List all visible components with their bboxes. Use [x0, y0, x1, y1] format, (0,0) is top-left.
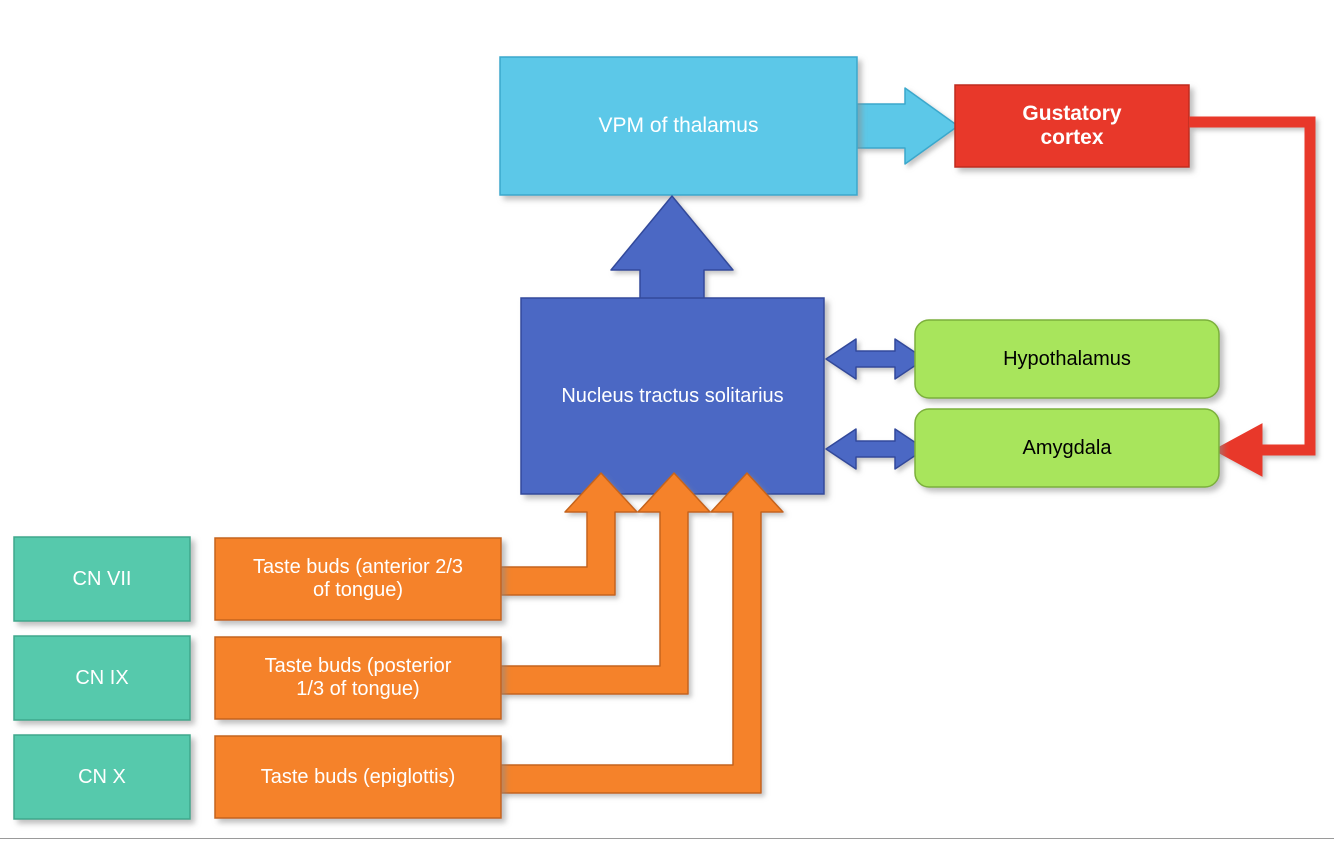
node-cn-ix[interactable] — [14, 636, 190, 720]
node-hypothalamus[interactable] — [915, 320, 1219, 398]
footer-divider — [0, 838, 1334, 839]
node-taste-buds-anterior[interactable] — [215, 538, 501, 620]
node-cn-vii[interactable] — [14, 537, 190, 621]
node-cn-x[interactable] — [14, 735, 190, 819]
connector-vpm-to-gustatory-cortex — [857, 88, 958, 164]
node-gustatory-cortex[interactable] — [955, 85, 1189, 167]
flow-diagram-svg — [0, 0, 1334, 844]
node-amygdala[interactable] — [915, 409, 1219, 487]
node-taste-buds-posterior[interactable] — [215, 637, 501, 719]
node-vpm-of-thalamus[interactable] — [500, 57, 857, 195]
connector-nts-amygdala — [826, 429, 925, 469]
connector-nts-to-vpm — [611, 196, 733, 310]
diagram-canvas: VPM of thalamus Gustatory cortex Nucleus… — [0, 0, 1334, 844]
connector-taste-epiglottis-to-nts — [501, 473, 783, 793]
node-nucleus-tractus-solitarius[interactable] — [521, 298, 824, 494]
node-taste-buds-epiglottis[interactable] — [215, 736, 501, 818]
connector-nts-hypothalamus — [826, 339, 925, 379]
